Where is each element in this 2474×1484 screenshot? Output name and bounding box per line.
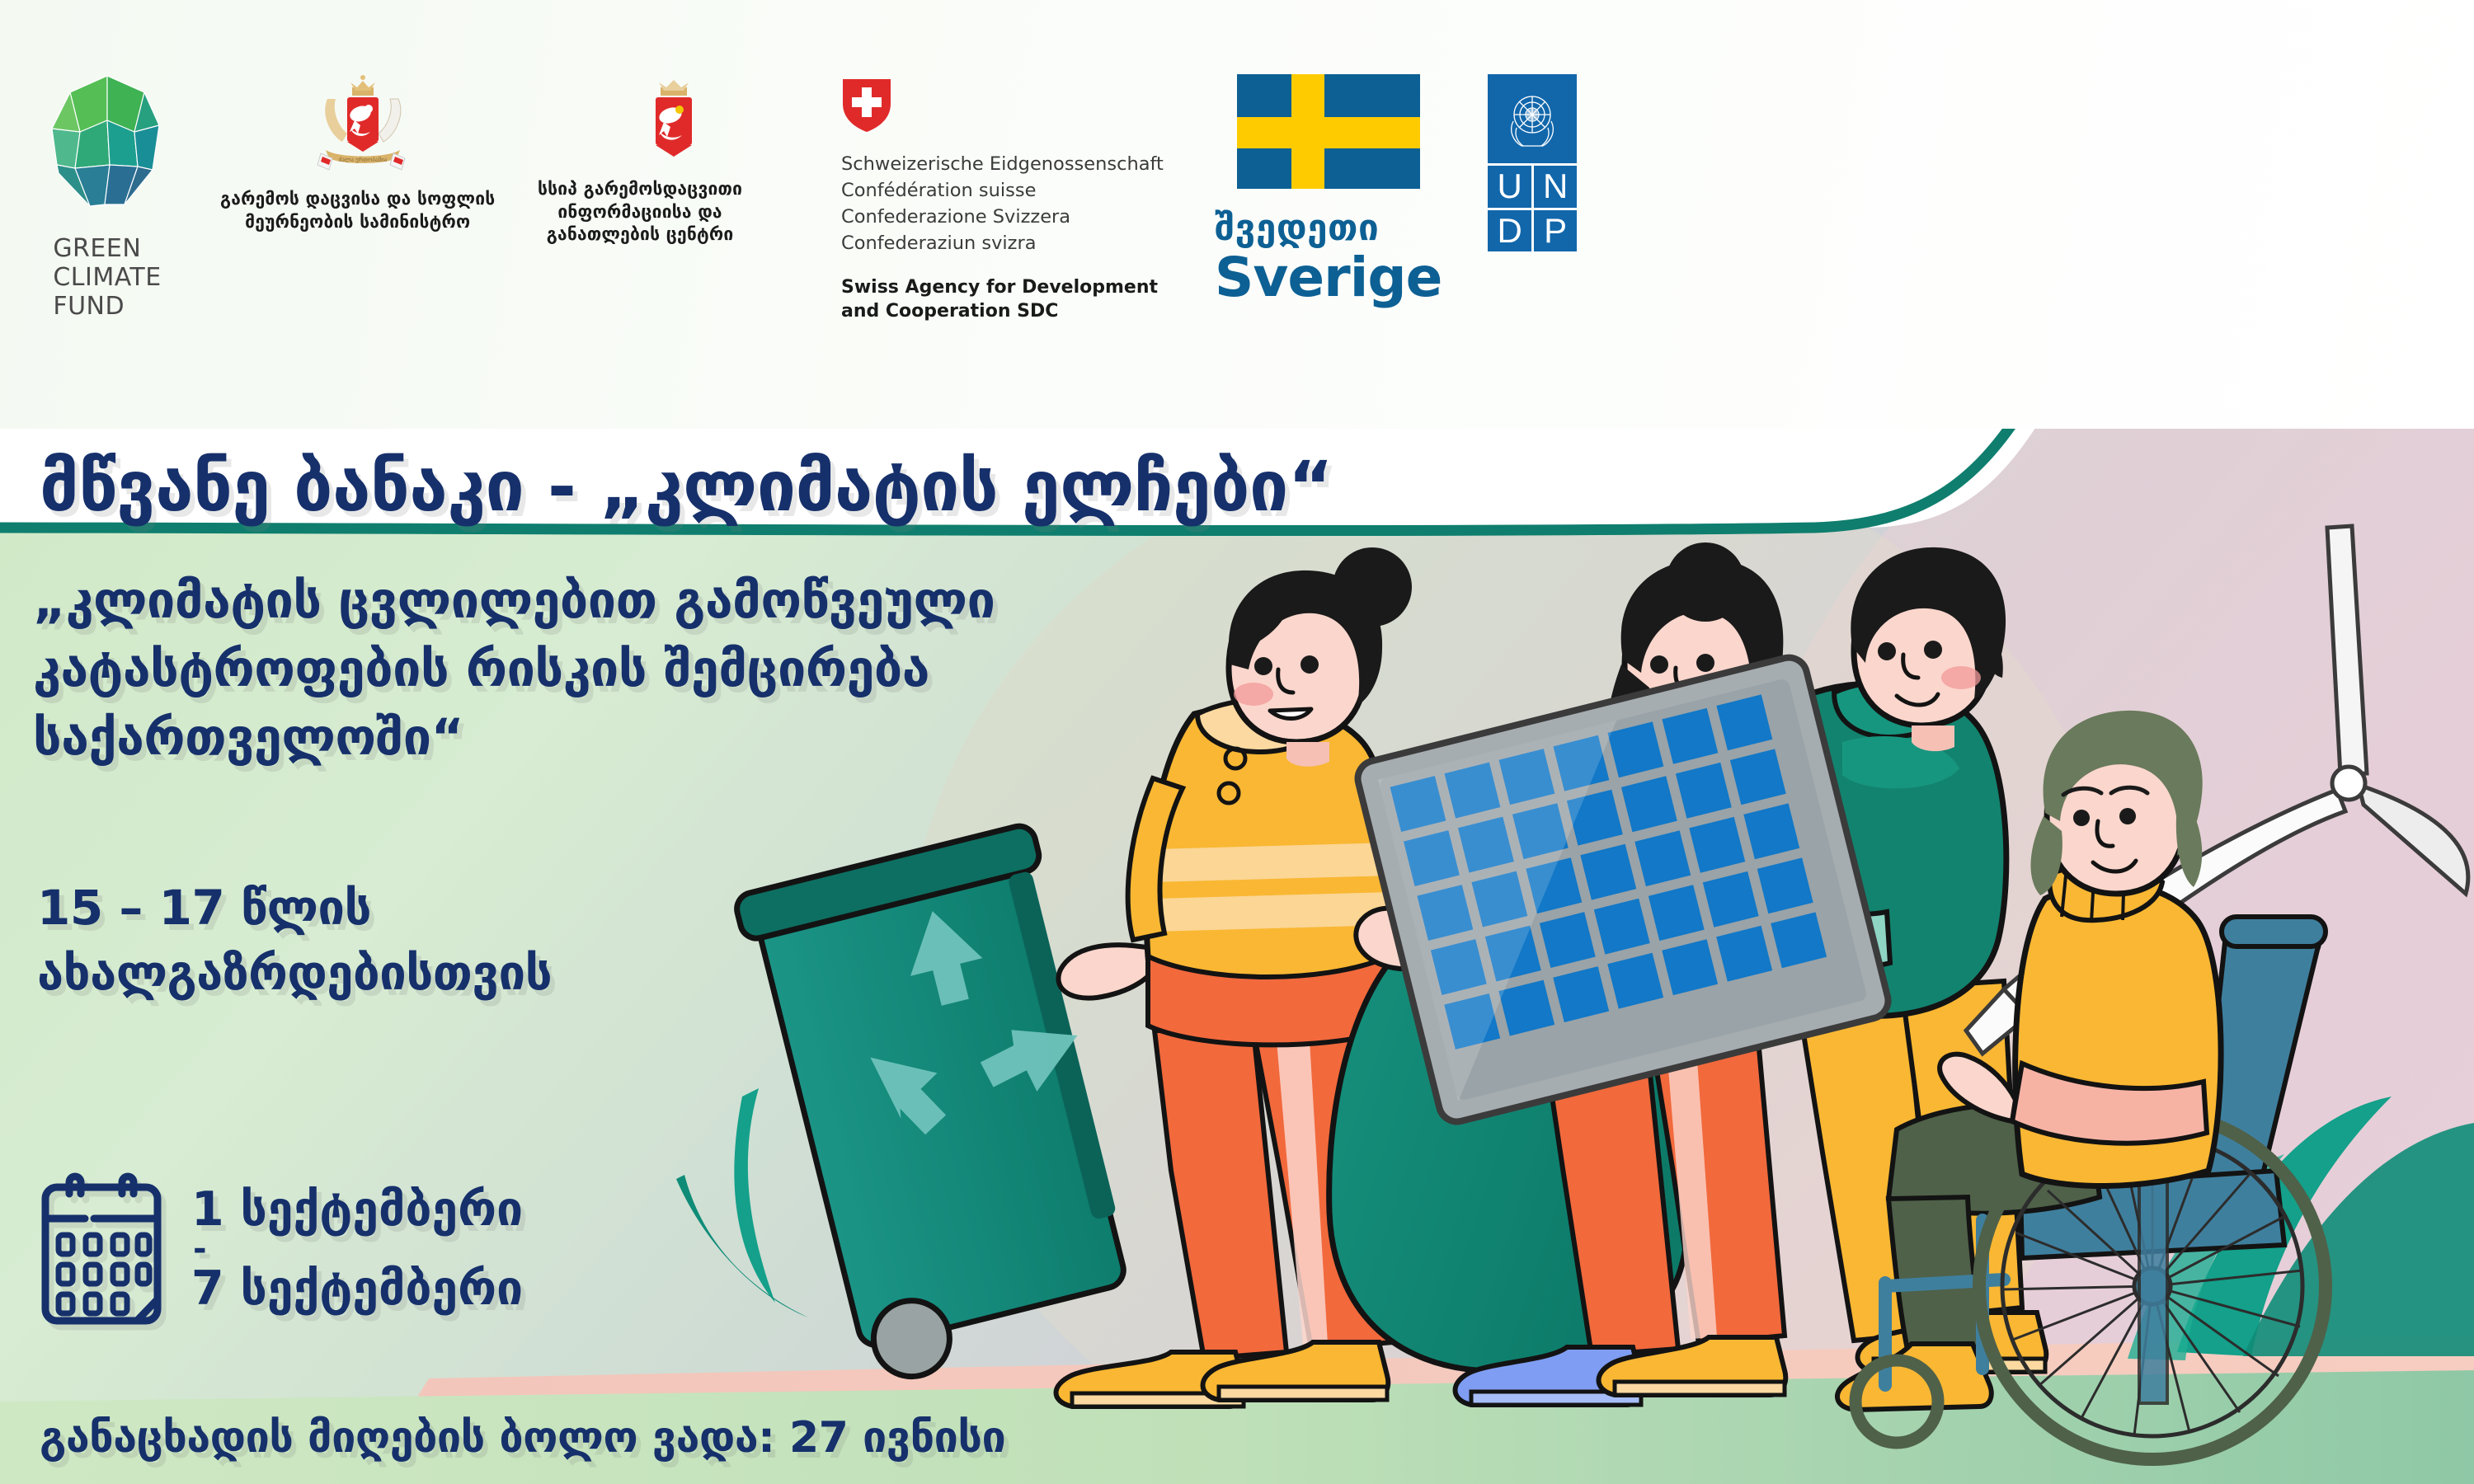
poster-root: GREEN CLIMATE FUND xyxy=(0,0,2474,1484)
sdc-line-1: Swiss Agency for Development xyxy=(841,275,1164,299)
infocentre-line-1: სსიპ გარემოსდაცვითი xyxy=(538,178,742,201)
swiss-sdc-name: Swiss Agency for Development and Coopera… xyxy=(841,275,1164,323)
undp-letter-p: P xyxy=(1534,210,1578,252)
logo-swiss-cooperation: Schweizerische Eidgenossenschaft Confédé… xyxy=(841,74,1164,323)
logo-green-climate-fund: GREEN CLIMATE FUND xyxy=(45,74,169,321)
un-emblem-icon xyxy=(1488,74,1577,163)
swiss-line-it: Confederazione Svizzera xyxy=(841,204,1164,231)
logo-sweden: შვედეთი Sverige xyxy=(1215,74,1442,305)
infocentre-line-3: განათლების ცენტრი xyxy=(538,223,742,247)
sweden-name-sv: Sverige xyxy=(1215,250,1442,305)
ministry-line-2: მეურნეობის სამინისტრო xyxy=(220,211,495,234)
undp-letter-n: N xyxy=(1534,166,1578,208)
gem-polygon-icon xyxy=(45,74,169,213)
georgia-coat-of-arms-icon: ძალა ერთობაშია xyxy=(309,74,416,175)
infocentre-name: სსიპ გარემოსდაცვითი ინფორმაციისა და განა… xyxy=(538,178,742,247)
infocentre-line-2: ინფორმაციისა და xyxy=(538,201,742,224)
ministry-name: გარემოს დაცვისა და სოფლის მეურნეობის სამ… xyxy=(220,188,495,233)
sweden-name-ka: შვედეთი xyxy=(1215,210,1442,247)
logo-row: GREEN CLIMATE FUND xyxy=(0,74,2062,264)
sdc-line-2: and Cooperation SDC xyxy=(841,299,1164,323)
svg-text:ძალა ერთობაშია: ძალა ერთობაშია xyxy=(338,156,387,163)
logo-undp: U N D P xyxy=(1488,74,1577,251)
logo-ministry-of-environment: ძალა ერთობაშია გარემოს დაცვისა და სოფლის… xyxy=(220,74,505,233)
gcf-line-3: FUND xyxy=(53,292,161,321)
undp-letter-d: D xyxy=(1488,210,1531,252)
undp-letter-grid: U N D P xyxy=(1488,166,1577,251)
gcf-line-1: GREEN xyxy=(53,234,161,263)
sweden-flag-icon xyxy=(1237,74,1420,189)
swiss-line-fr: Confédération suisse xyxy=(841,178,1164,204)
undp-letter-u: U xyxy=(1488,166,1531,208)
swiss-shield-icon xyxy=(841,77,892,134)
swiss-line-rm: Confederaziun svizra xyxy=(841,231,1164,257)
ministry-line-1: გარემოს დაცვისა და სოფლის xyxy=(220,188,495,211)
logo-environmental-information-centre: სსიპ გარემოსდაცვითი ინფორმაციისა და განა… xyxy=(538,74,810,247)
gcf-wordmark: GREEN CLIMATE FUND xyxy=(53,234,161,321)
sponsor-logo-band: GREEN CLIMATE FUND xyxy=(0,0,2474,429)
georgia-small-crest-icon xyxy=(646,74,702,167)
swiss-confederation-names: Schweizerische Eidgenossenschaft Confédé… xyxy=(841,152,1164,257)
gcf-line-2: CLIMATE xyxy=(53,263,161,292)
swiss-line-de: Schweizerische Eidgenossenschaft xyxy=(841,152,1164,178)
